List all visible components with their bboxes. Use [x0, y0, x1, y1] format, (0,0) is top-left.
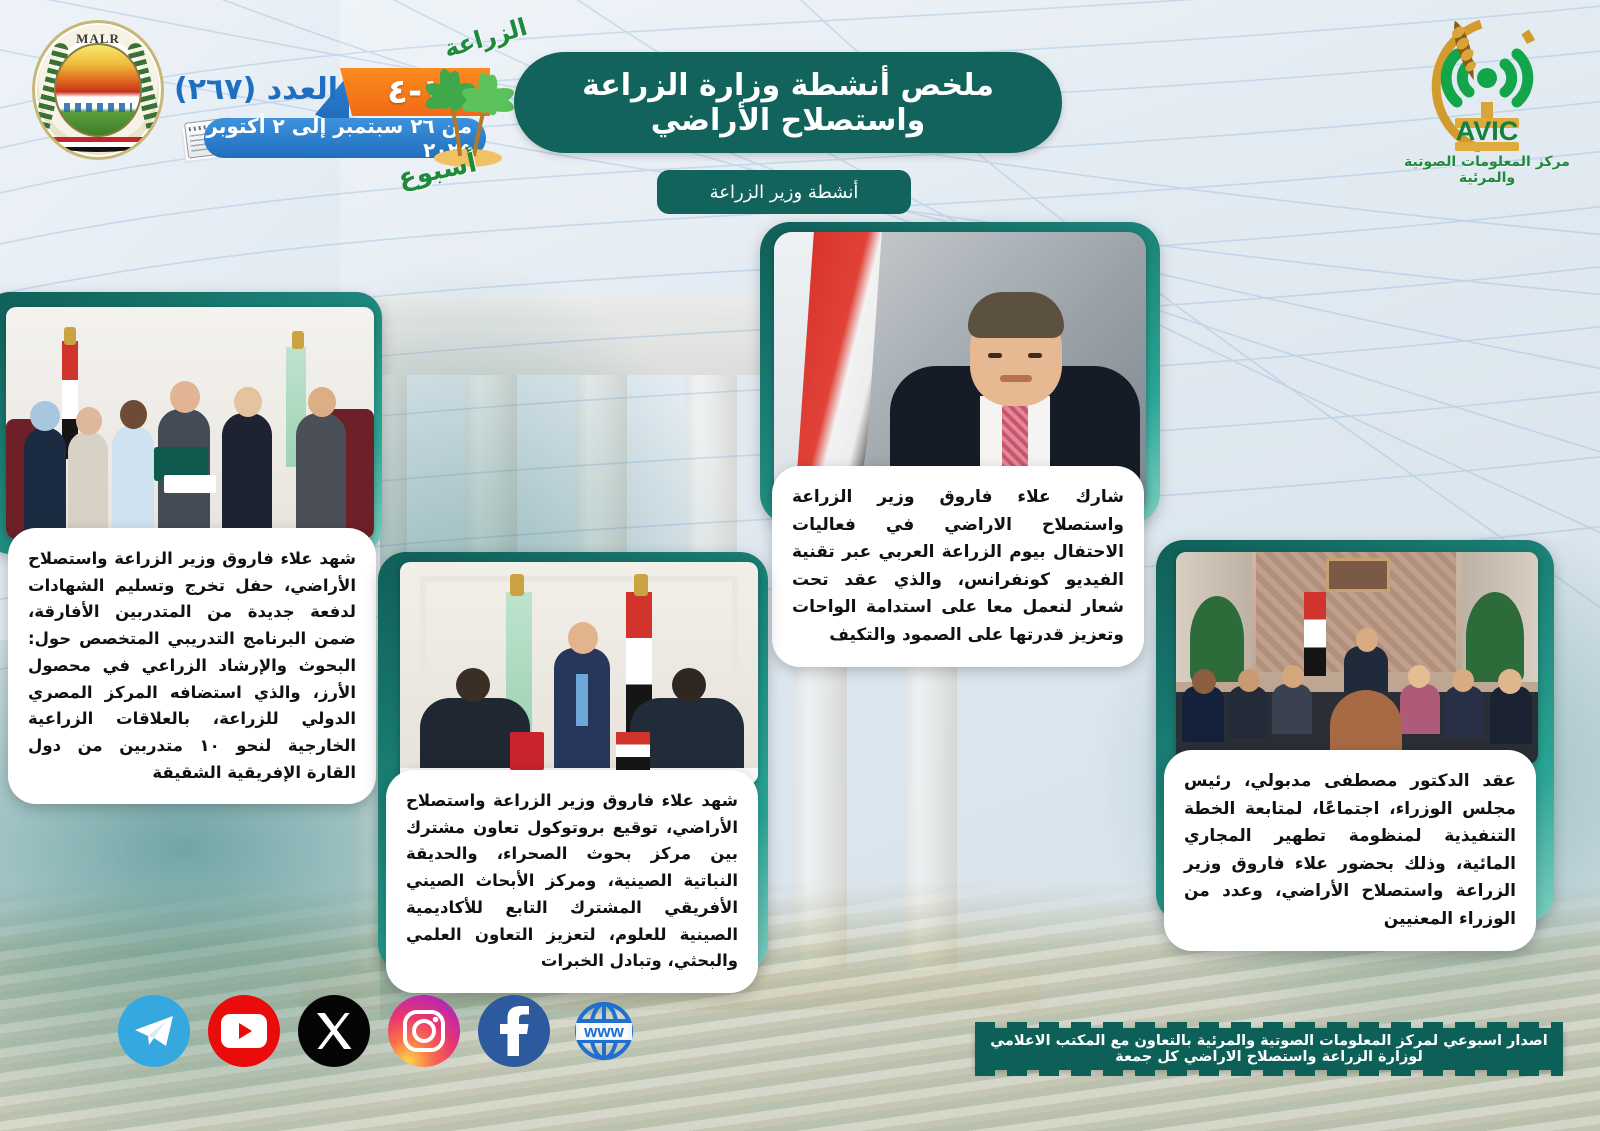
svg-text:www: www [583, 1022, 624, 1041]
x-twitter-icon[interactable] [298, 995, 370, 1067]
issue-number-label: العدد (٢٦٧) [168, 72, 338, 107]
video-conference-card: شارك علاء فاروق وزير الزراعة واستصلاح ال… [772, 466, 1144, 667]
avic-mark-icon: AVIC [1397, 6, 1577, 152]
page-title: ملخص أنشطة وزارة الزراعة واستصلاح الأراض… [514, 52, 1062, 153]
avic-subtitle: مركز المعلومات الصوتية والمرئية [1392, 154, 1582, 186]
youtube-icon[interactable] [208, 995, 280, 1067]
protocol-photo [400, 562, 758, 784]
instagram-icon[interactable] [388, 995, 460, 1067]
agriculture-week-palm-logo: الزراعة أسبوع [392, 16, 532, 186]
graduation-card: شهد علاء فاروق وزير الزراعة واستصلاح الأ… [8, 528, 376, 804]
section-subtitle: أنشطة وزير الزراعة [657, 170, 911, 214]
avic-logo: AVIC مركز المعلومات الصوتية والمرئية [1392, 6, 1582, 176]
pm-meeting-photo [1176, 552, 1538, 764]
telegram-icon[interactable] [118, 995, 190, 1067]
protocol-card: شهد علاء فاروق وزير الزراعة واستصلاح الأ… [386, 770, 758, 993]
footer-banner: اصدار اسبوعي لمركز المعلومات الصوتية وال… [975, 1028, 1563, 1070]
pm-meeting-card: عقد الدكتور مصطفى مدبولي، رئيس مجلس الوز… [1164, 750, 1536, 951]
ministry-seal-logo: MALR [32, 20, 164, 160]
graduation-photo [6, 307, 374, 539]
svg-text:AVIC: AVIC [1456, 116, 1519, 146]
social-links-row: www [118, 995, 640, 1067]
facebook-icon[interactable] [478, 995, 550, 1067]
website-icon[interactable]: www [568, 995, 640, 1067]
